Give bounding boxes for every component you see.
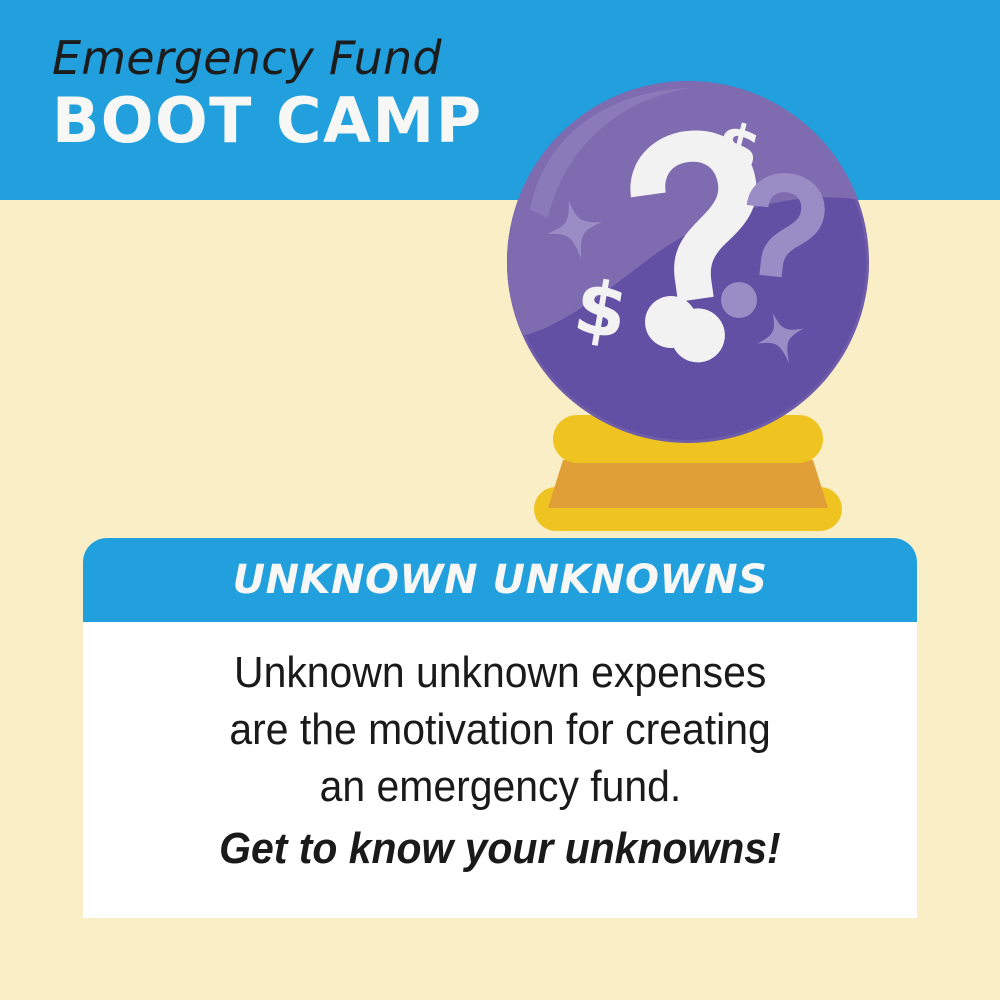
svg-text:$: $ [568, 263, 634, 357]
card-body-line-3: an emergency fund. [319, 758, 681, 815]
base-middle-orange [548, 460, 828, 508]
info-card: UNKNOWN UNKNOWNS Unknown unknown expense… [83, 538, 917, 918]
base-bottom-bar [534, 487, 842, 531]
dot-white [645, 296, 697, 348]
card-emphasis-line: Get to know your unknowns! [219, 820, 781, 877]
card-body: Unknown unknown expenses are the motivat… [83, 622, 917, 918]
ball-shadow-crescent [688, 262, 868, 442]
sparkle-left [541, 195, 608, 265]
card-body-line-1: Unknown unknown expenses [234, 644, 766, 701]
card-header: UNKNOWN UNKNOWNS [83, 538, 917, 622]
page-title: BOOT CAMP [52, 86, 483, 155]
sparkle-right [750, 306, 812, 370]
card-body-line-2: are the motivation for creating [229, 701, 770, 758]
base-top-bar [553, 415, 823, 463]
header-title-block: Emergency Fund BOOT CAMP [52, 34, 483, 156]
crystal-ball-base [534, 415, 842, 531]
infographic-poster: Emergency Fund BOOT CAMP [0, 0, 1000, 1000]
dot-purple [721, 282, 757, 318]
header-subtitle: Emergency Fund [52, 34, 483, 82]
dollar-sign-lower: $ [568, 263, 634, 357]
ball-shadow-lower [700, 262, 869, 443]
card-header-label: UNKNOWN UNKNOWNS [233, 557, 768, 603]
